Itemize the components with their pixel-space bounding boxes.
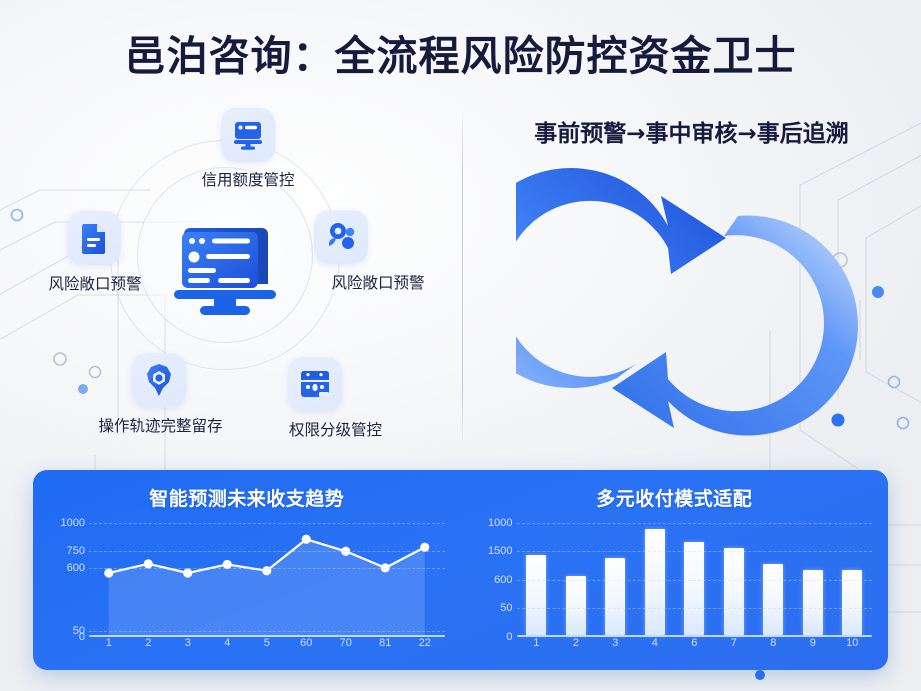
line-chart-plot: 1000750600500 1234560708122 <box>45 517 449 655</box>
x-tick-label: 4 <box>635 637 675 655</box>
monitor-icon <box>221 108 275 162</box>
x-tick-label: 1 <box>89 637 129 655</box>
document-icon <box>67 211 121 265</box>
feature-cluster: 信用额度管控 风险敞口预警 <box>0 100 462 460</box>
line-data-point <box>144 559 153 568</box>
x-tick-label: 2 <box>556 637 596 655</box>
bar-slot <box>833 517 873 635</box>
bar-slot <box>754 517 794 635</box>
bar-slot <box>675 517 715 635</box>
x-axis-labels: 1234560708122 <box>89 637 445 655</box>
chart-title: 智能预测未来收支趋势 <box>45 484 449 511</box>
x-tick-label: 3 <box>596 637 636 655</box>
y-tick-label: 50 <box>500 602 512 614</box>
y-tick-label: 0 <box>79 631 85 643</box>
network-cluster-icon <box>314 210 368 264</box>
y-tick-label: 1000 <box>488 517 512 529</box>
x-tick-label: 4 <box>208 637 248 655</box>
bar-slot <box>714 517 754 635</box>
grid-line <box>517 608 873 609</box>
x-tick-label: 6 <box>675 637 715 655</box>
x-tick-label: 9 <box>793 637 833 655</box>
bar-slot <box>596 517 636 635</box>
grid-line <box>517 580 873 581</box>
cycle-caption: 事前预警→事中审核→事后追溯 <box>462 114 921 148</box>
bar <box>566 576 586 635</box>
x-tick-label: 2 <box>129 637 169 655</box>
grid-line <box>89 551 445 552</box>
monitor-dashboard-icon <box>170 222 280 318</box>
y-axis-labels: 1000750600500 <box>45 517 85 637</box>
hexagon-shield-icon <box>132 353 186 407</box>
y-tick-label: 0 <box>506 631 512 643</box>
x-tick-label: 3 <box>168 637 208 655</box>
page-title: 邑泊咨询：全流程风险防控资金卫士 <box>0 22 921 82</box>
charts-panel: 智能预测未来收支趋势 1000750600500 1234560708122 多… <box>33 470 888 670</box>
y-tick-label: 1500 <box>488 545 512 557</box>
grid-line <box>89 568 445 569</box>
line-data-point <box>183 568 192 577</box>
line-data-point <box>302 535 311 544</box>
bar-series <box>517 517 873 635</box>
feature-node-credit[interactable]: 信用额度管控 <box>168 108 328 190</box>
y-tick-label: 1000 <box>61 517 85 529</box>
bar <box>724 548 744 635</box>
bar-slot <box>556 517 596 635</box>
bar-slot <box>793 517 833 635</box>
x-tick-label: 60 <box>287 637 327 655</box>
permission-card-icon <box>288 357 342 411</box>
bar <box>645 529 665 635</box>
x-tick-label: 8 <box>754 637 794 655</box>
cycle-section: 事前预警→事中审核→事后追溯 <box>462 100 921 460</box>
line-data-point <box>104 568 113 577</box>
x-tick-label: 1 <box>517 637 557 655</box>
bar-slot <box>517 517 557 635</box>
x-tick-label: 70 <box>326 637 366 655</box>
bar <box>526 555 546 635</box>
bar <box>684 542 704 635</box>
grid-line <box>89 523 445 524</box>
bar-chart-plot: 10001500600500 1234678910 <box>473 517 877 655</box>
line-area-fill <box>109 539 425 637</box>
feature-label: 信用额度管控 <box>168 168 328 190</box>
feature-node-risk-left[interactable]: 风险敞口预警 <box>21 211 169 294</box>
y-tick-label: 750 <box>67 545 85 557</box>
circular-arrows-icon <box>516 156 866 456</box>
bar-slot <box>635 517 675 635</box>
feature-label: 操作轨迹完整留存 <box>68 414 253 436</box>
chart-title: 多元收付模式适配 <box>473 484 877 511</box>
feature-label: 风险敞口预警 <box>21 272 169 294</box>
feature-node-trace[interactable]: 操作轨迹完整留存 <box>68 353 253 436</box>
y-tick-label: 600 <box>67 562 85 574</box>
line-chart-grid <box>89 517 445 637</box>
y-axis-labels: 10001500600500 <box>473 517 513 637</box>
grid-line <box>89 631 445 632</box>
bar <box>763 564 783 635</box>
grid-line <box>517 551 873 552</box>
grid-line <box>517 523 873 524</box>
x-tick-label: 22 <box>405 637 445 655</box>
line-chart-card: 智能预测未来收支趋势 1000750600500 1234560708122 <box>33 470 461 670</box>
x-tick-label: 7 <box>714 637 754 655</box>
x-axis-labels: 1234678910 <box>517 637 873 655</box>
bar <box>605 558 625 635</box>
slide-title-container: 邑泊咨询：全流程风险防控资金卫士 <box>0 22 921 82</box>
feature-node-risk-right[interactable]: 风险敞口预警 <box>304 210 452 293</box>
feature-node-permission[interactable]: 权限分级管控 <box>258 357 413 440</box>
bar-chart-grid <box>517 517 873 637</box>
slide-canvas: 邑泊咨询：全流程风险防控资金卫士 <box>0 0 921 691</box>
y-tick-label: 600 <box>494 574 512 586</box>
x-tick-label: 5 <box>247 637 287 655</box>
line-series <box>89 517 445 637</box>
bar-chart-card: 多元收付模式适配 10001500600500 1234678910 <box>461 470 889 670</box>
feature-label: 风险敞口预警 <box>304 271 452 293</box>
feature-label: 权限分级管控 <box>258 418 413 440</box>
x-tick-label: 10 <box>833 637 873 655</box>
x-tick-label: 81 <box>366 637 406 655</box>
